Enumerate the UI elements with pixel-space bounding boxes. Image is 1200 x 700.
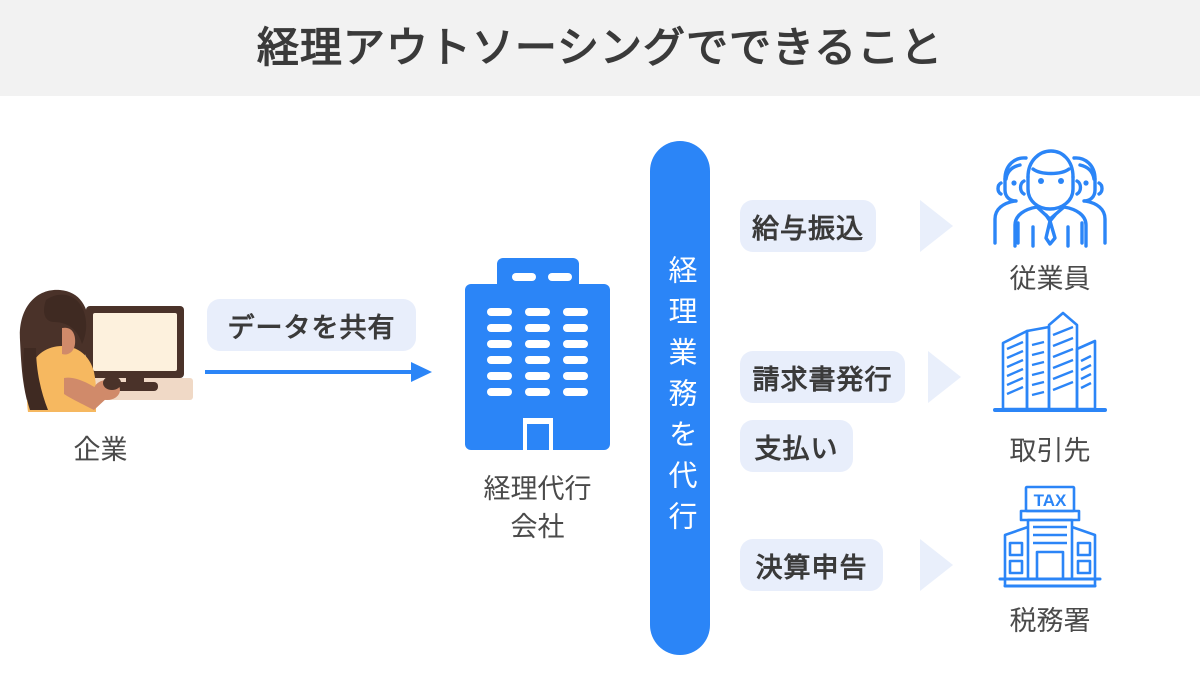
page-title: 経理アウトソーシングでできること [0,18,1200,78]
tax-office-icon: TAX [955,483,1145,598]
person-at-computer-icon [8,278,193,423]
agency-label-line1: 経理代行 [440,470,635,508]
task-badge-invoice: 請求書発行 [740,351,905,403]
triangle-right-icon-employees [920,200,953,252]
task-badge-payment: 支払い [740,420,853,472]
destination-label-partners: 取引先 [955,432,1145,470]
destination-employees: 従業員 [955,143,1145,298]
destination-label-tax: 税務署 [955,602,1145,640]
city-buildings-icon [955,305,1145,428]
destination-tax-office: TAX 税務署 [955,483,1145,640]
triangle-right-icon-tax [920,539,953,591]
agency-label: 経理代行 会社 [440,470,635,546]
share-arrow-icon [203,358,433,386]
tax-sign-text: TAX [1034,491,1067,510]
task-badge-closing: 決算申告 [740,539,883,591]
agency-label-line2: 会社 [440,508,635,546]
source-label: 企業 [18,432,183,468]
destination-label-employees: 従業員 [955,260,1145,298]
three-employees-icon [955,143,1145,256]
task-badge-salary: 給与振込 [740,200,876,252]
share-data-badge: データを共有 [207,299,416,351]
accounting-agency-building-icon [465,258,610,450]
destination-partners: 取引先 [955,305,1145,470]
vertical-pill-label: 経理業務を代行 [650,141,710,655]
diagram-canvas: 経理アウトソーシングでできること 企業 [0,0,1200,700]
